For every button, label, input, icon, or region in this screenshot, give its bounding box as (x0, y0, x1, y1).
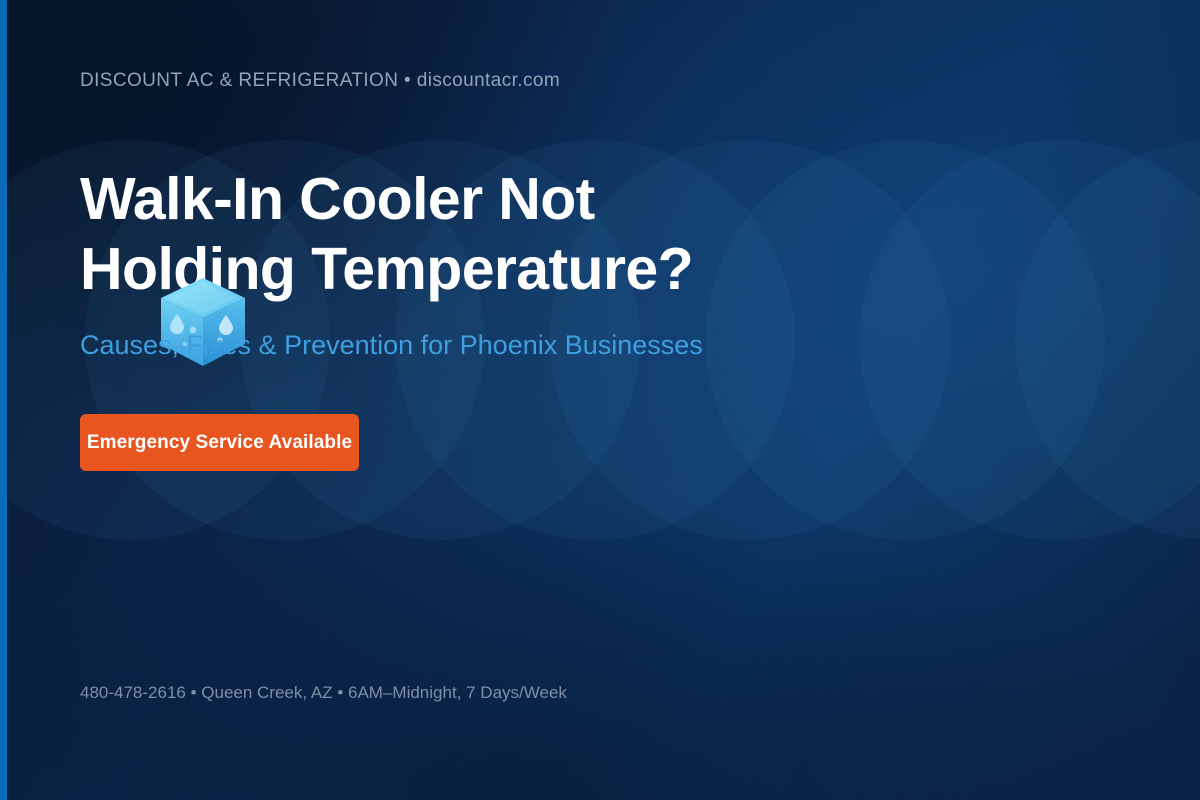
brand-eyebrow: DISCOUNT AC & REFRIGERATION • discountac… (80, 70, 560, 92)
hero-subheadline: Causes, Fixes & Prevention for Phoenix B… (80, 330, 703, 361)
emergency-service-button[interactable]: Emergency Service Available (80, 414, 359, 471)
hero-banner: DISCOUNT AC & REFRIGERATION • discountac… (0, 0, 1200, 800)
left-accent-bar (0, 0, 7, 800)
page-title: Walk-In Cooler Not Holding Temperature? (80, 164, 900, 304)
contact-footer: 480-478-2616 • Queen Creek, AZ • 6AM–Mid… (80, 683, 567, 703)
headline-line-1: Walk-In Cooler Not (80, 164, 900, 234)
hero-content: DISCOUNT AC & REFRIGERATION • discountac… (80, 0, 1120, 800)
headline-line-2: Holding Temperature? (80, 234, 900, 304)
